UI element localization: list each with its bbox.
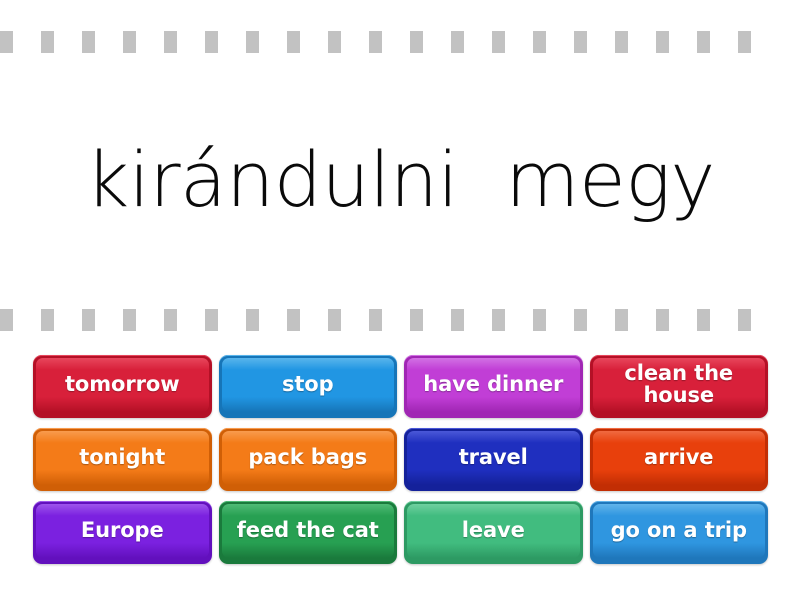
answer-tile[interactable]: stop [219, 355, 398, 418]
divider-dash [451, 31, 464, 53]
answer-tile-face: leave [407, 504, 580, 558]
divider-dash [697, 31, 710, 53]
answer-tile-face: feed the cat [222, 504, 395, 558]
divider-dash [492, 31, 505, 53]
answer-tile[interactable]: pack bags [219, 428, 398, 491]
divider-dash [615, 31, 628, 53]
find-the-match-activity: kirándulni megy tomorrowstophave dinnerc… [0, 0, 800, 600]
answer-tile[interactable]: clean the house [590, 355, 769, 418]
divider-dash [123, 31, 136, 53]
divider-dash [410, 31, 423, 53]
answer-tile-face: travel [407, 431, 580, 485]
divider-dash [205, 31, 218, 53]
prompt-text: kirándulni megy [85, 140, 715, 220]
divider-dash [287, 31, 300, 53]
divider-dash [164, 31, 177, 53]
answer-tile-face: clean the house [593, 358, 766, 412]
answer-tile[interactable]: tomorrow [33, 355, 212, 418]
divider-dash [0, 309, 13, 331]
tile-row: tomorrowstophave dinnerclean the house [33, 355, 768, 418]
divider-dash [656, 309, 669, 331]
answer-tile[interactable]: arrive [590, 428, 769, 491]
divider-dash [0, 31, 13, 53]
divider-dash [41, 31, 54, 53]
answer-tile-grid: tomorrowstophave dinnerclean the houseto… [33, 355, 768, 564]
answer-tile-label: tomorrow [65, 374, 180, 396]
divider-dash [328, 31, 341, 53]
answer-tile-label: Europe [81, 520, 164, 542]
answer-tile-face: tonight [36, 431, 209, 485]
answer-tile[interactable]: leave [404, 501, 583, 564]
divider-dash [451, 309, 464, 331]
divider-dash [369, 309, 382, 331]
answer-tile-face: stop [222, 358, 395, 412]
divider-dash [246, 31, 259, 53]
answer-tile-label: go on a trip [611, 520, 747, 542]
divider-dash [82, 31, 95, 53]
answer-tile-label: leave [462, 520, 525, 542]
prompt-area: kirándulni megy [0, 110, 800, 250]
divider-dash [205, 309, 218, 331]
divider-dash [615, 309, 628, 331]
tile-row: Europefeed the catleavego on a trip [33, 501, 768, 564]
answer-tile-face: go on a trip [593, 504, 766, 558]
divider-dash [82, 309, 95, 331]
answer-tile[interactable]: feed the cat [219, 501, 398, 564]
answer-tile-label: tonight [79, 447, 165, 469]
divider-dash [533, 31, 546, 53]
answer-tile[interactable]: tonight [33, 428, 212, 491]
divider-dash [328, 309, 341, 331]
answer-tile-face: arrive [593, 431, 766, 485]
answer-tile-label: have dinner [423, 374, 563, 396]
answer-tile-face: have dinner [407, 358, 580, 412]
divider-dash [656, 31, 669, 53]
divider-dash [533, 309, 546, 331]
answer-tile-label: stop [282, 374, 334, 396]
dashed-divider-middle [0, 309, 800, 331]
tile-row: tonightpack bagstravelarrive [33, 428, 768, 491]
divider-dash [369, 31, 382, 53]
divider-dash [246, 309, 259, 331]
answer-tile-label: travel [459, 447, 528, 469]
answer-tile-label: clean the house [624, 363, 733, 407]
divider-dash [41, 309, 54, 331]
answer-tile-face: tomorrow [36, 358, 209, 412]
answer-tile-label: feed the cat [237, 520, 379, 542]
dashed-divider-top [0, 31, 800, 53]
answer-tile[interactable]: have dinner [404, 355, 583, 418]
divider-dash [123, 309, 136, 331]
divider-dash [738, 309, 751, 331]
answer-tile-face: Europe [36, 504, 209, 558]
answer-tile[interactable]: go on a trip [590, 501, 769, 564]
answer-tile-label: pack bags [248, 447, 367, 469]
answer-tile[interactable]: Europe [33, 501, 212, 564]
divider-dash [287, 309, 300, 331]
answer-tile[interactable]: travel [404, 428, 583, 491]
divider-dash [738, 31, 751, 53]
answer-tile-label: arrive [644, 447, 713, 469]
divider-dash [410, 309, 423, 331]
divider-dash [164, 309, 177, 331]
divider-dash [574, 31, 587, 53]
divider-dash [697, 309, 710, 331]
divider-dash [492, 309, 505, 331]
divider-dash [574, 309, 587, 331]
answer-tile-face: pack bags [222, 431, 395, 485]
